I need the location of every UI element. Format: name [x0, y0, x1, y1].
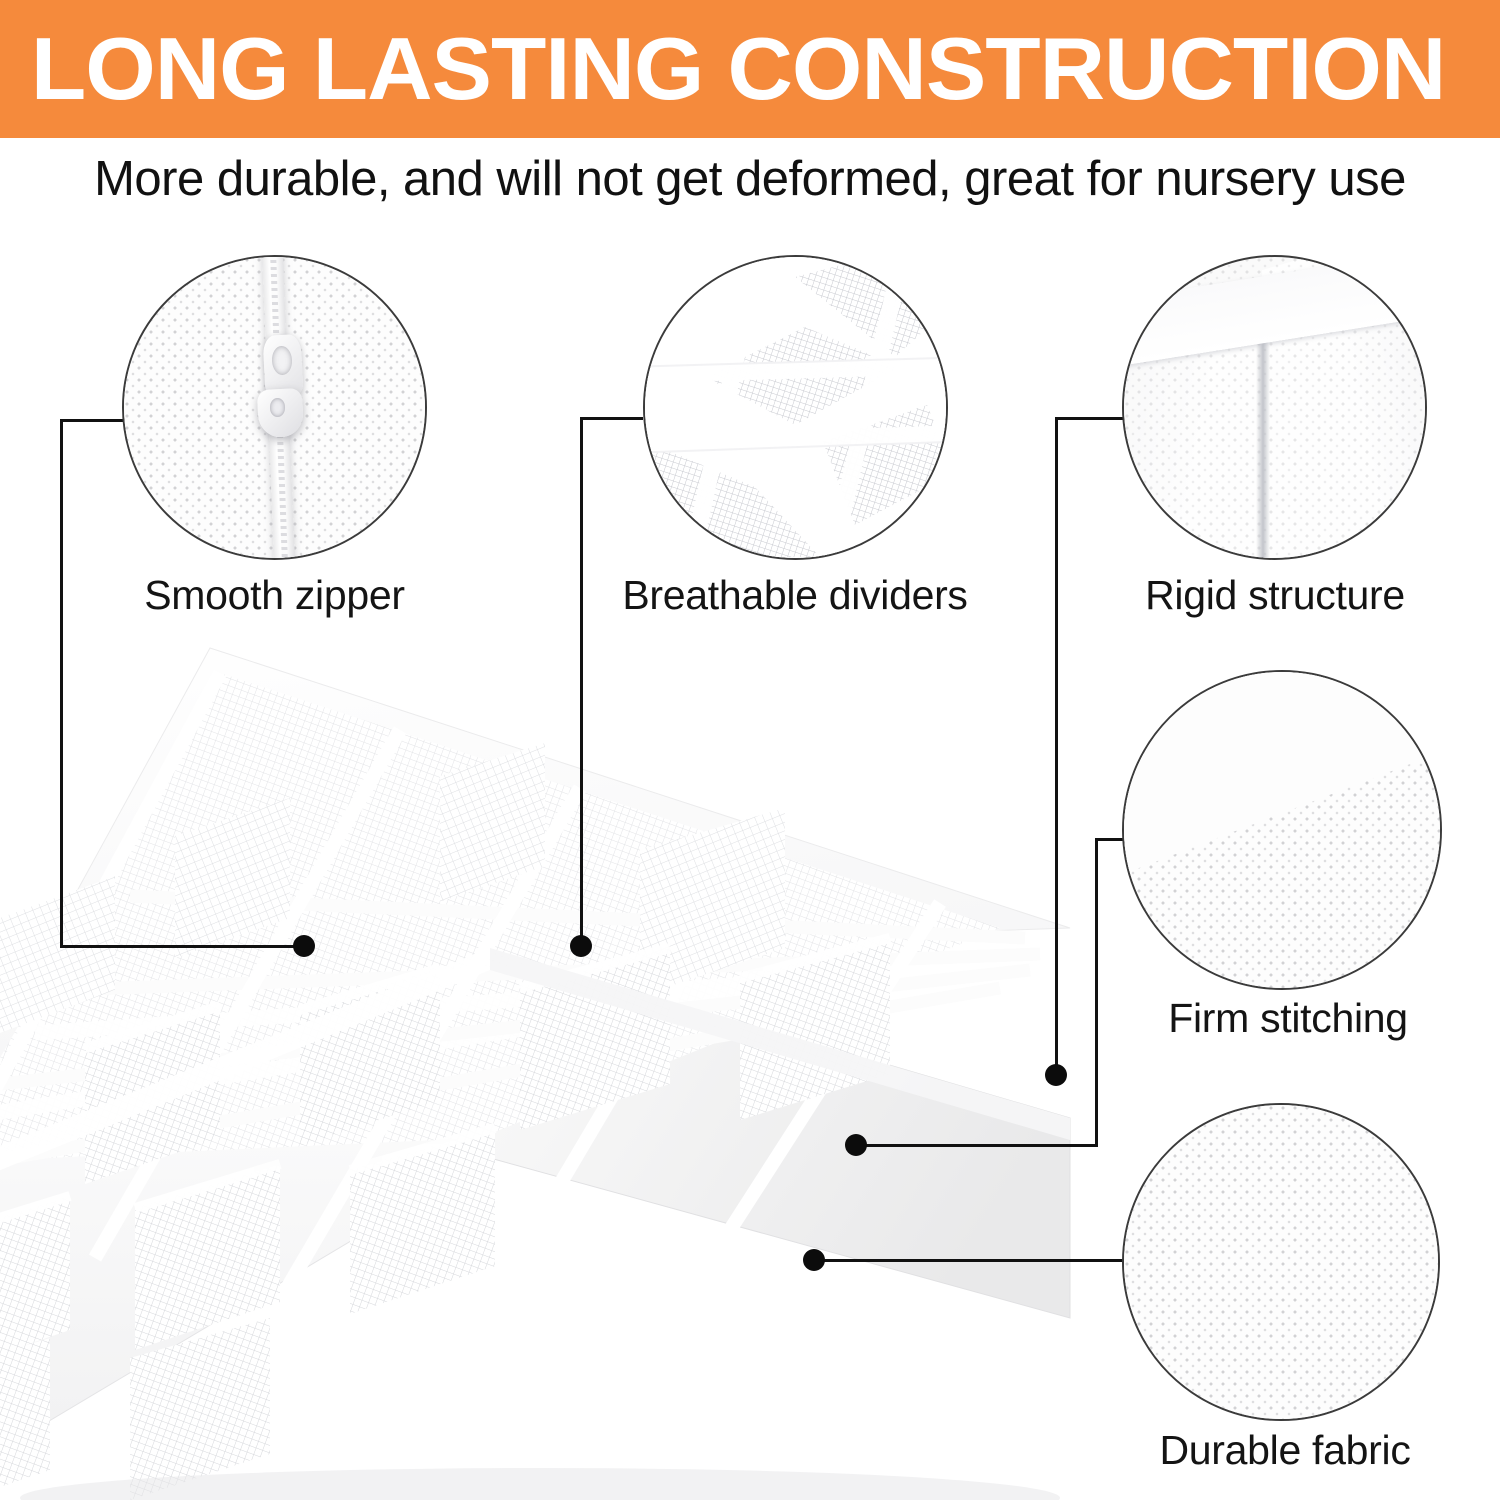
callout-label-smooth-zipper: Smooth zipper [92, 572, 457, 619]
durable-fabric-texture [1124, 1105, 1438, 1419]
leader-dot-fabric [803, 1249, 825, 1271]
leader-line-zipper-bottom [60, 945, 305, 948]
leader-line-rigid-top [1055, 417, 1123, 420]
leader-line-dividers-vertical [580, 417, 583, 945]
leader-line-dividers-top [580, 417, 643, 420]
rigid-closeup-circle [1122, 255, 1427, 560]
corner-seam [1256, 323, 1270, 560]
callout-label-durable-fabric: Durable fabric [1110, 1427, 1460, 1474]
fabric-closeup-circle [1122, 1103, 1440, 1421]
zipper-slider-notch [270, 398, 285, 416]
leader-line-rigid-vertical [1055, 417, 1058, 1077]
leader-dot-dividers [570, 935, 592, 957]
zipper-closeup-circle [122, 255, 427, 560]
product-image [0, 618, 1140, 1500]
dividers-closeup-circle [643, 255, 948, 560]
infographic-page: LONG LASTING CONSTRUCTION More durable, … [0, 0, 1500, 1500]
leader-dot-zipper [293, 935, 315, 957]
callout-label-breathable-dividers: Breathable dividers [595, 572, 995, 619]
leader-line-zipper-top [60, 419, 126, 422]
stitching-closeup-circle [1122, 670, 1442, 990]
callout-label-rigid-structure: Rigid structure [1110, 572, 1440, 619]
subtitle-text: More durable, and will not get deformed,… [0, 140, 1500, 218]
leader-dot-rigid [1045, 1064, 1067, 1086]
header-banner: LONG LASTING CONSTRUCTION [0, 0, 1500, 138]
leader-line-zipper-vertical [60, 419, 63, 948]
leader-line-stitching-vertical [1095, 838, 1098, 1146]
leader-dot-stitching [845, 1134, 867, 1156]
page-title: LONG LASTING CONSTRUCTION [0, 25, 1445, 113]
drawer-organizer-illustration [0, 618, 1140, 1500]
leader-line-stitching-bottom [855, 1144, 1098, 1147]
dividers-closeup-art [645, 257, 948, 560]
callout-label-firm-stitching: Firm stitching [1118, 995, 1458, 1042]
leader-line-fabric [813, 1259, 1125, 1262]
